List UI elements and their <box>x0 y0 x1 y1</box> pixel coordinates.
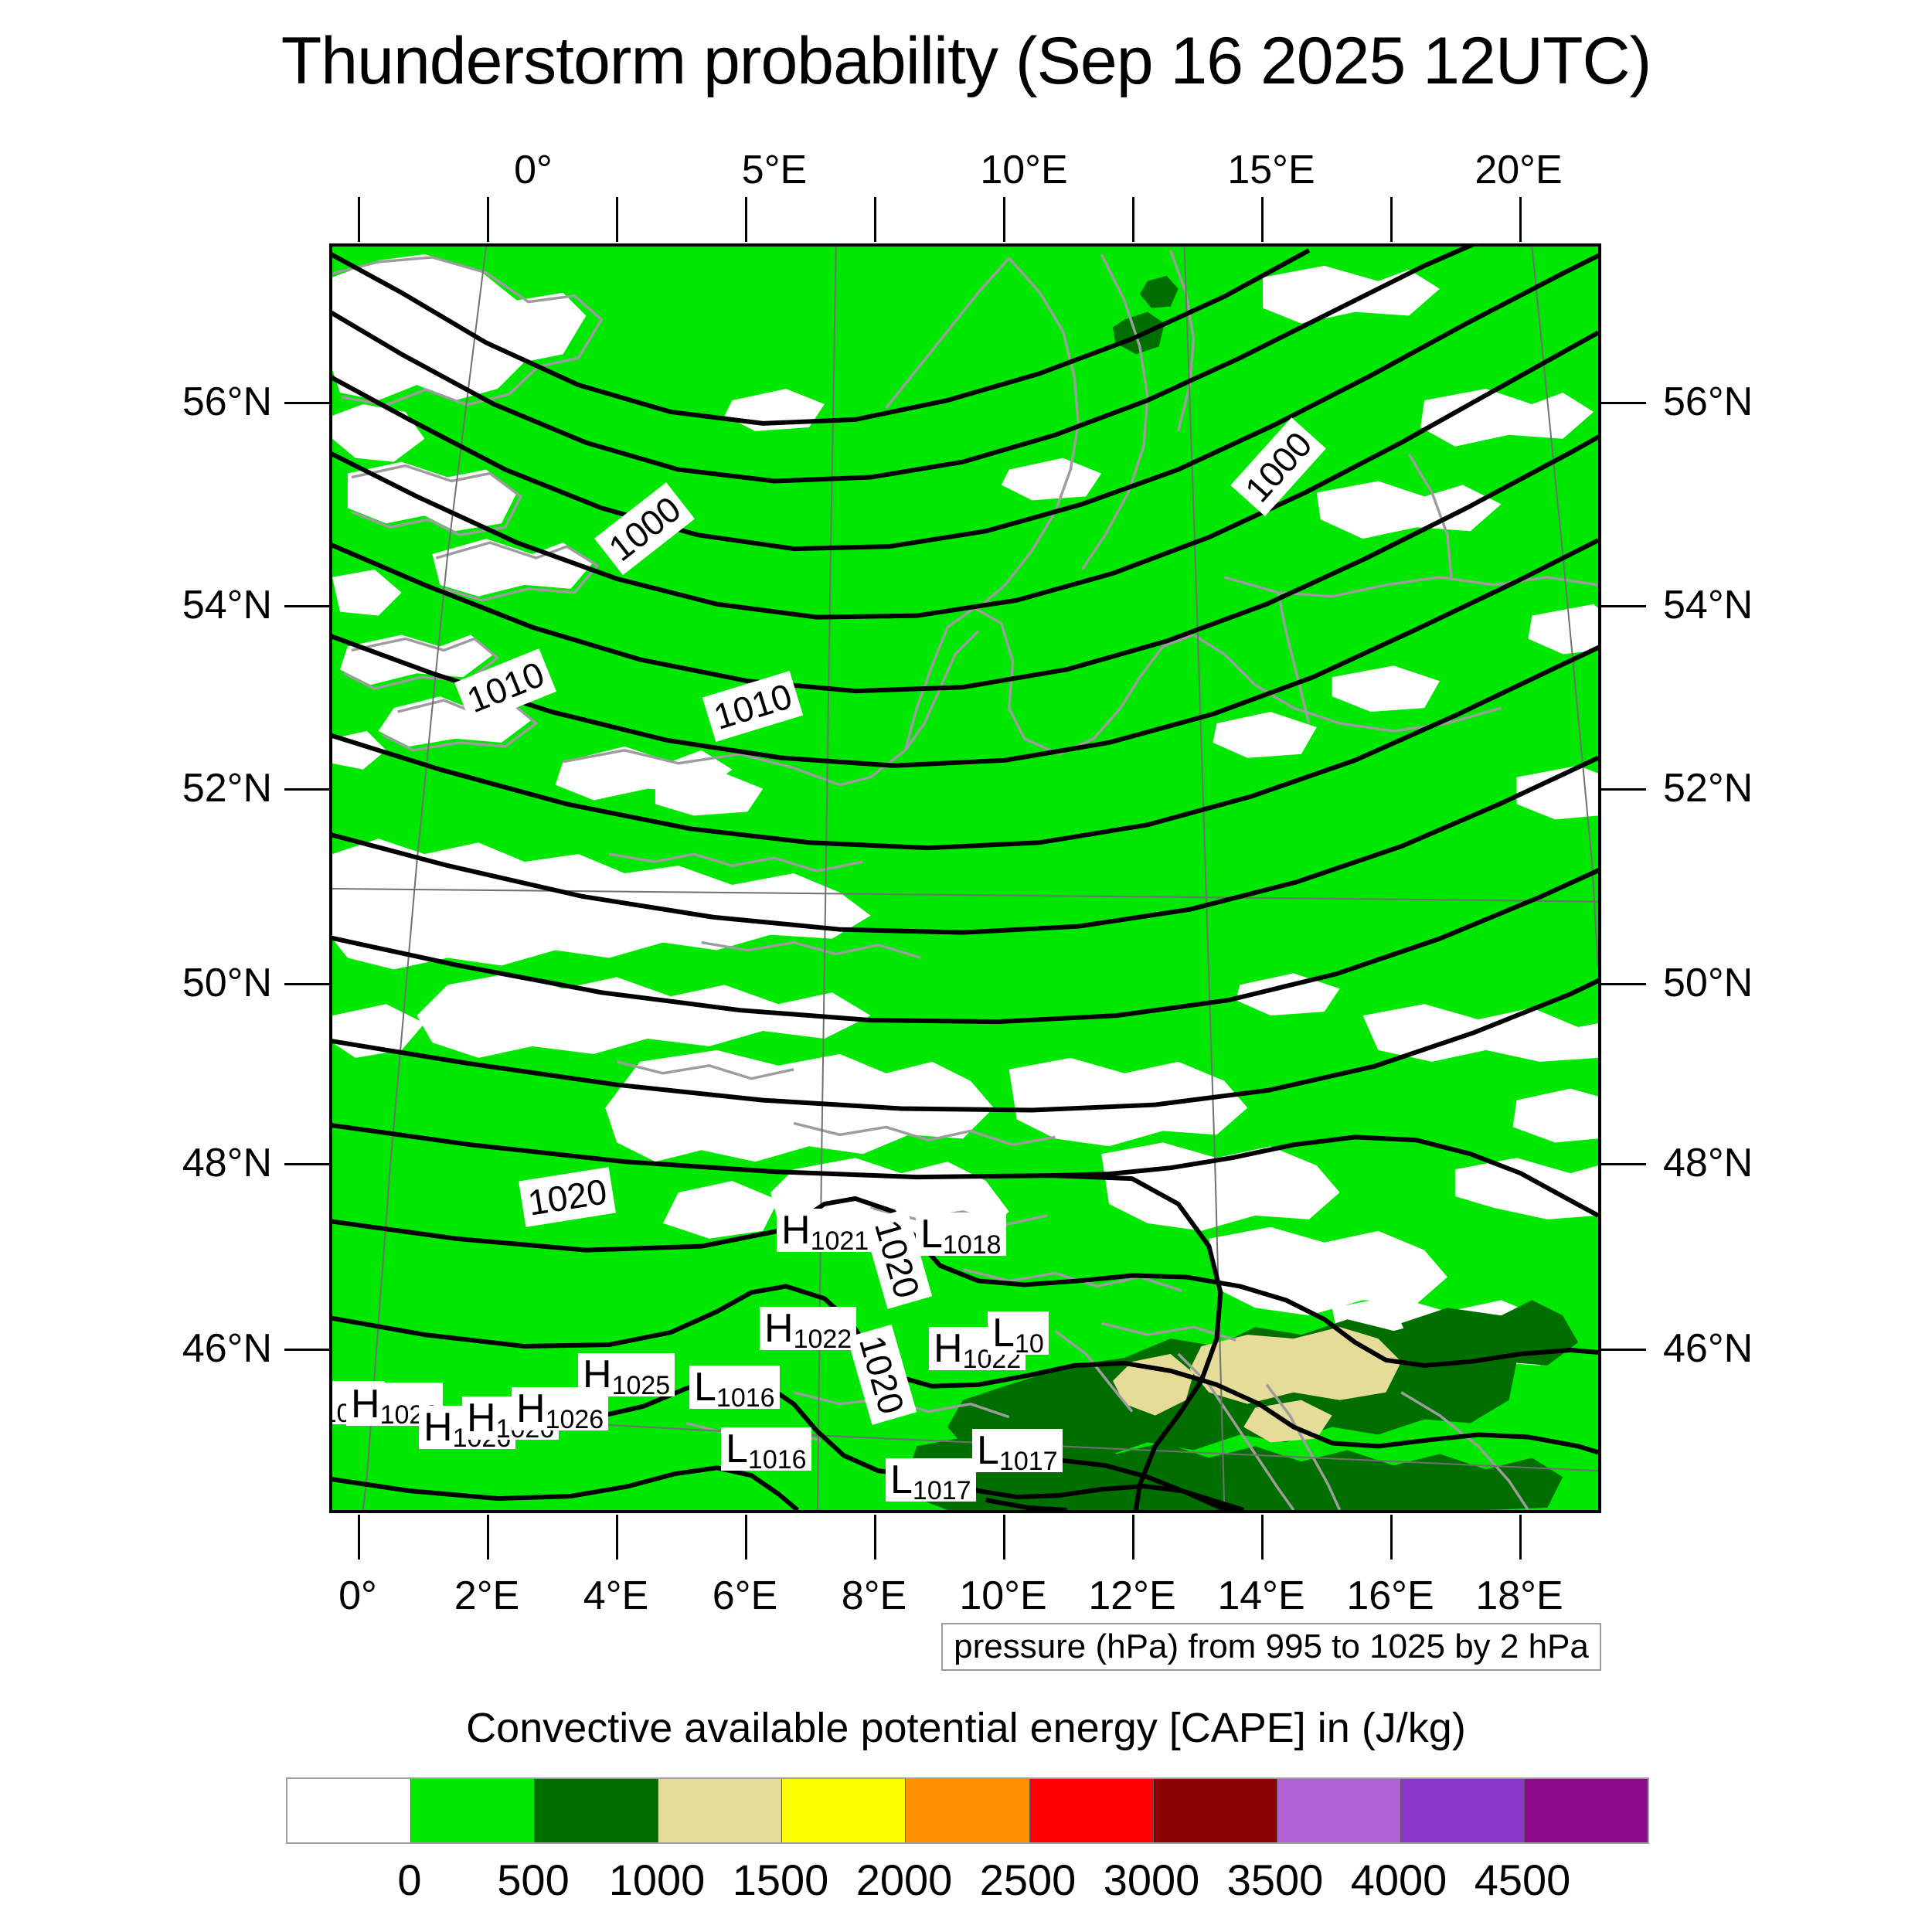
pressure-centre-low: L1018 <box>916 1213 1006 1256</box>
lon-label-bottom: 6°E <box>713 1573 777 1619</box>
colorbar-swatch-dark-purple[interactable] <box>1525 1779 1648 1842</box>
colorbar-tick-label: 0 <box>397 1855 421 1905</box>
lon-label-bottom: 12°E <box>1088 1573 1175 1619</box>
lat-label-left: 50°N <box>102 960 272 1006</box>
colorbar-tick-label: 500 <box>497 1855 569 1905</box>
lat-label-right: 50°N <box>1663 960 1753 1006</box>
lon-label-top: 5°E <box>742 147 807 193</box>
colorbar-swatch-orange[interactable] <box>906 1779 1029 1842</box>
lon-label-bottom: 4°E <box>583 1573 648 1619</box>
pressure-centre-low: L10 <box>988 1311 1049 1355</box>
colorbar-swatch-dark-red[interactable] <box>1154 1779 1277 1842</box>
pressure-centre-low: L1017 <box>886 1458 976 1502</box>
lat-label-right: 52°N <box>1663 765 1753 811</box>
pressure-centre-low: L1017 <box>972 1429 1063 1472</box>
colorbar[interactable] <box>286 1777 1649 1844</box>
lon-label-bottom: 16°E <box>1346 1573 1434 1619</box>
colorbar-tick-label: 4500 <box>1475 1855 1571 1905</box>
colorbar-swatch-light-purple[interactable] <box>1277 1779 1401 1842</box>
colorbar-title: Convective available potential energy [C… <box>0 1704 1932 1752</box>
colorbar-tick-label: 2000 <box>856 1855 953 1905</box>
pressure-contour-note: pressure (hPa) from 995 to 1025 by 2 hPa <box>941 1623 1601 1671</box>
colorbar-tick-label: 3500 <box>1227 1855 1324 1905</box>
map-canvas <box>332 247 1598 1510</box>
lon-label-top: 20°E <box>1475 147 1562 193</box>
lon-label-bottom: 18°E <box>1475 1573 1563 1619</box>
colorbar-swatch-white[interactable] <box>287 1779 411 1842</box>
pressure-centre-high: H1026 <box>512 1387 608 1430</box>
lat-label-right: 56°N <box>1663 379 1753 425</box>
colorbar-swatch-dark-green[interactable] <box>535 1779 658 1842</box>
lon-label-top: 15°E <box>1227 147 1315 193</box>
colorbar-tick-label: 1500 <box>733 1855 829 1905</box>
lat-label-right: 54°N <box>1663 582 1753 628</box>
pressure-centre-low: L1016 <box>689 1366 780 1409</box>
lon-label-bottom: 8°E <box>842 1573 906 1619</box>
lat-label-left: 52°N <box>102 765 272 811</box>
colorbar-tick-label: 3000 <box>1104 1855 1200 1905</box>
map-plot-area[interactable]: 1000 1000 1010 1010 1020 1020 1020 H1021… <box>329 243 1601 1513</box>
colorbar-swatch-yellow[interactable] <box>782 1779 906 1842</box>
pressure-centre-low: L1016 <box>721 1427 811 1471</box>
lon-label-bottom: 2°E <box>454 1573 519 1619</box>
lon-label-bottom: 10°E <box>959 1573 1046 1619</box>
colorbar-tick-label: 1000 <box>609 1855 706 1905</box>
colorbar-swatch-red[interactable] <box>1030 1779 1154 1842</box>
lat-label-left: 48°N <box>102 1140 272 1186</box>
lon-label-bottom: 14°E <box>1217 1573 1304 1619</box>
colorbar-tick-label: 2500 <box>980 1855 1077 1905</box>
lat-label-left: 54°N <box>102 582 272 628</box>
lat-label-right: 46°N <box>1663 1325 1753 1372</box>
lat-label-left: 46°N <box>102 1325 272 1372</box>
pressure-centre-high: H1021 <box>777 1209 873 1252</box>
lat-label-left: 56°N <box>102 379 272 425</box>
colorbar-swatch-medium-purple[interactable] <box>1401 1779 1525 1842</box>
lon-label-bottom: 0° <box>338 1573 377 1619</box>
colorbar-swatch-bright-green[interactable] <box>411 1779 535 1842</box>
lon-label-top: 10°E <box>980 147 1067 193</box>
lon-label-top: 0° <box>514 147 553 193</box>
page-title: Thunderstorm probability (Sep 16 2025 12… <box>0 23 1932 100</box>
pressure-centre-high: H1022 <box>760 1307 856 1350</box>
colorbar-tick-label: 4000 <box>1351 1855 1447 1905</box>
colorbar-swatch-khaki[interactable] <box>658 1779 782 1842</box>
lat-label-right: 48°N <box>1663 1140 1753 1186</box>
